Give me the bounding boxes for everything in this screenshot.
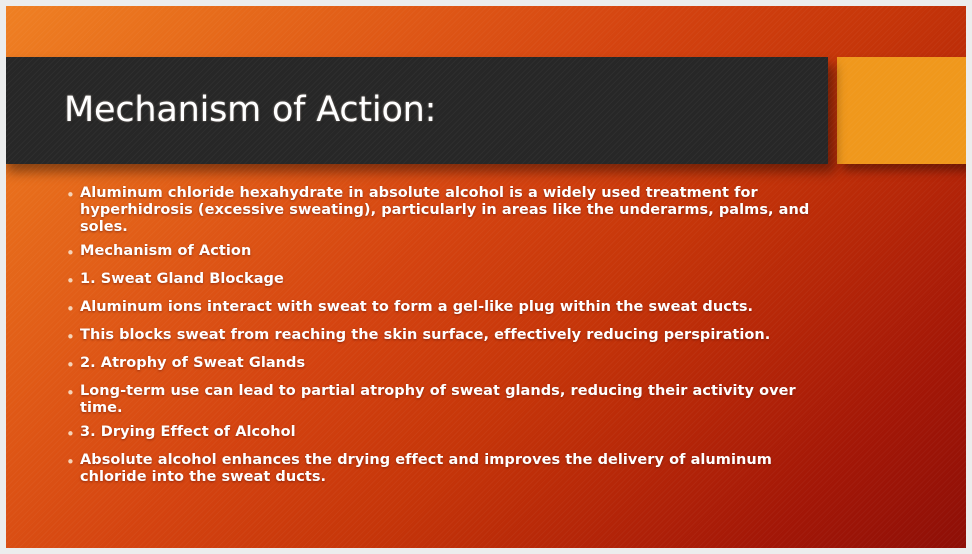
bullet-marker-icon: •	[62, 424, 80, 445]
accent-block-decoration	[837, 57, 966, 164]
list-item: • 3. Drying Effect of Alcohol	[62, 424, 852, 445]
slide-title: Mechanism of Action:	[64, 90, 436, 130]
list-item-text: 2. Atrophy of Sweat Glands	[80, 355, 810, 372]
list-item-text: Aluminum ions interact with sweat to for…	[80, 299, 810, 316]
bullet-marker-icon: •	[62, 383, 80, 404]
list-item: • Absolute alcohol enhances the drying e…	[62, 452, 852, 486]
list-item: • Aluminum chloride hexahydrate in absol…	[62, 185, 852, 236]
list-item: • Aluminum ions interact with sweat to f…	[62, 299, 852, 320]
bullet-marker-icon: •	[62, 327, 80, 348]
bullet-marker-icon: •	[62, 243, 80, 264]
list-item: • 2. Atrophy of Sweat Glands	[62, 355, 852, 376]
bullet-list: • Aluminum chloride hexahydrate in absol…	[62, 185, 852, 493]
bullet-marker-icon: •	[62, 271, 80, 292]
list-item-text: Aluminum chloride hexahydrate in absolut…	[80, 185, 810, 236]
title-banner: Mechanism of Action:	[6, 57, 828, 164]
list-item-text: 3. Drying Effect of Alcohol	[80, 424, 810, 441]
presentation-slide: Mechanism of Action: • Aluminum chloride…	[6, 6, 966, 548]
list-item: • Mechanism of Action	[62, 243, 852, 264]
list-item: • This blocks sweat from reaching the sk…	[62, 327, 852, 348]
list-item: • 1. Sweat Gland Blockage	[62, 271, 852, 292]
list-item: • Long-term use can lead to partial atro…	[62, 383, 852, 417]
list-item-text: Mechanism of Action	[80, 243, 810, 260]
bullet-marker-icon: •	[62, 185, 80, 206]
list-item-text: 1. Sweat Gland Blockage	[80, 271, 810, 288]
bullet-marker-icon: •	[62, 299, 80, 320]
bullet-marker-icon: •	[62, 452, 80, 473]
list-item-text: This blocks sweat from reaching the skin…	[80, 327, 810, 344]
list-item-text: Long-term use can lead to partial atroph…	[80, 383, 804, 417]
bullet-marker-icon: •	[62, 355, 80, 376]
list-item-text: Absolute alcohol enhances the drying eff…	[80, 452, 804, 486]
